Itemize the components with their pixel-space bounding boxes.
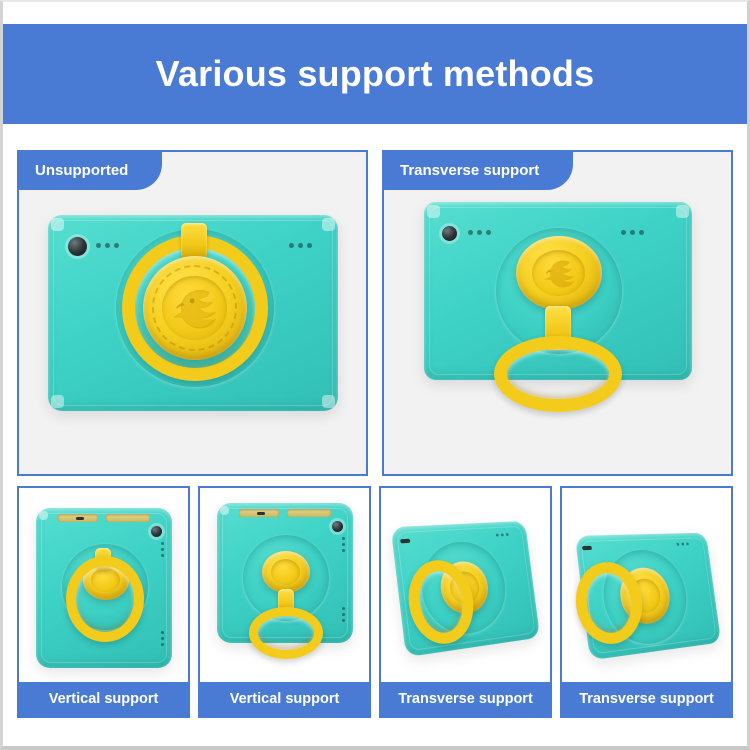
bumper-nub [51, 218, 64, 231]
camera-icon [151, 526, 162, 537]
support-ring [66, 556, 144, 642]
product-image-angled-1 [381, 488, 550, 682]
speaker-dots [289, 243, 312, 248]
port-slot [257, 512, 265, 515]
badge-label-transverse: Transverse support [382, 150, 573, 190]
support-ring-kickstand [249, 607, 323, 659]
panel-transverse-support-1: Transverse support [379, 486, 552, 718]
caption-vertical-support-2: Vertical support [200, 682, 369, 716]
badge-label-unsupported: Unsupported [17, 150, 162, 190]
bumper-nub [322, 218, 335, 231]
product-image-unsupported [19, 152, 366, 474]
tablet-case-portrait [36, 508, 172, 668]
top-panel-row: Unsupported [17, 150, 733, 476]
port-slot [581, 546, 591, 550]
tablet-case-portrait-stand [217, 503, 353, 671]
camera-icon [442, 226, 457, 241]
panel-transverse-support-2: Transverse support [560, 486, 733, 718]
bottom-panel-row: Vertical support [17, 486, 733, 718]
bumper-nub [676, 205, 689, 218]
speaker-dots [621, 230, 644, 235]
eagle-medallion [262, 551, 310, 593]
speaker-dots [342, 607, 345, 622]
bumper-nub [322, 395, 335, 408]
product-infographic: Various support methods Unsupported [0, 0, 750, 750]
speaker-dots [96, 243, 119, 248]
header-banner: Various support methods [3, 24, 747, 124]
product-image-vertical-1 [19, 488, 188, 682]
panel-vertical-support-1: Vertical support [17, 486, 190, 718]
speaker-dots [161, 631, 164, 646]
panel-vertical-support-2: Vertical support [198, 486, 371, 718]
bumper-nub [51, 395, 64, 408]
panel-unsupported: Unsupported [17, 150, 368, 476]
eagle-head-icon [528, 246, 590, 299]
eagle-head-icon [157, 271, 232, 346]
eagle-medallion [143, 256, 247, 360]
medallion-inner-disc [271, 559, 301, 585]
port-slot [400, 539, 410, 544]
bumper-nub [39, 511, 48, 520]
product-image-angled-2 [562, 488, 731, 682]
product-image-vertical-2 [200, 488, 369, 682]
screen-edge-sliver [287, 509, 331, 517]
camera-icon [332, 521, 343, 532]
panel-transverse-support: Transverse support [382, 150, 733, 476]
page-title: Various support methods [156, 53, 595, 95]
camera-icon [68, 237, 87, 256]
bumper-nub [427, 205, 440, 218]
ring-hinge-tab [181, 223, 207, 259]
speaker-dots [342, 537, 345, 552]
screen-edge-sliver [106, 514, 150, 522]
caption-transverse-support-1: Transverse support [381, 682, 550, 716]
speaker-dots [161, 542, 164, 557]
tablet-case-flat [48, 215, 338, 411]
speaker-dots [676, 542, 688, 545]
support-ring-kickstand [494, 336, 622, 412]
product-image-transverse [384, 152, 731, 474]
caption-transverse-support-2: Transverse support [562, 682, 731, 716]
port-slot [76, 517, 84, 520]
bumper-nub [220, 506, 229, 515]
eagle-medallion [516, 236, 602, 310]
caption-vertical-support-1: Vertical support [19, 682, 188, 716]
tablet-case-kickstand [424, 202, 692, 432]
speaker-dots [468, 230, 491, 235]
